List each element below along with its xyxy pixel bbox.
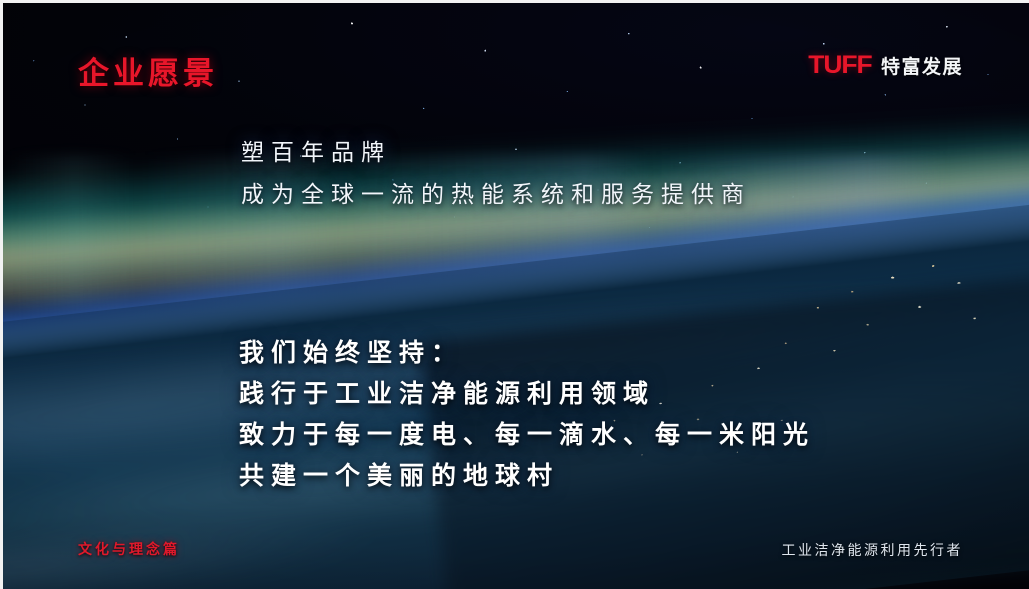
footer-slogan: 工业洁净能源利用先行者 (782, 540, 964, 560)
vision-statement-block: 塑百年品牌 成为全球一流的热能系统和服务提供商 (241, 131, 751, 215)
slide-content-layer: 企业愿景 TUFF 特富发展 塑百年品牌 成为全球一流的热能系统和服务提供商 我… (3, 3, 1029, 589)
company-name-cn: 特富发展 (881, 52, 963, 79)
creed-line: 践行于工业洁净能源利用领域 (239, 374, 815, 415)
page-title: 企业愿景 (78, 48, 218, 93)
footer-section-label: 文化与理念篇 (78, 539, 180, 559)
brand-logo: TUFF 特富发展 (810, 51, 963, 80)
vision-line: 成为全球一流的热能系统和服务提供商 (241, 173, 751, 215)
creed-line: 致力于每一度电、每一滴水、每一米阳光 (239, 415, 815, 456)
creed-line: 我们始终坚持： (239, 333, 815, 374)
vision-line: 塑百年品牌 (241, 131, 751, 173)
presentation-slide: 企业愿景 TUFF 特富发展 塑百年品牌 成为全球一流的热能系统和服务提供商 我… (0, 0, 1029, 589)
creed-line: 共建一个美丽的地球村 (239, 456, 815, 497)
creed-statement-block: 我们始终坚持： 践行于工业洁净能源利用领域 致力于每一度电、每一滴水、每一米阳光… (239, 333, 815, 497)
tuff-wordmark-icon: TUFF (808, 51, 871, 80)
